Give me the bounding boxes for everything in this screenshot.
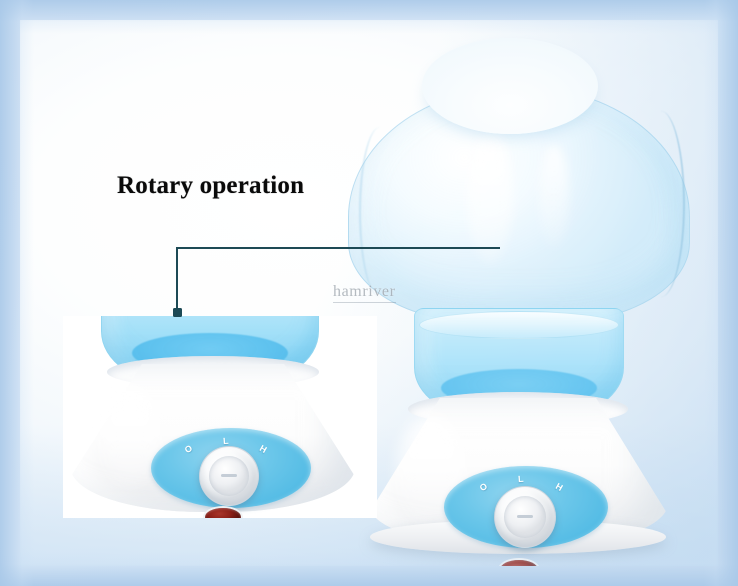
rotary-knob-indicator-mark-main	[517, 515, 533, 518]
dial-label-low-inset: L	[223, 436, 229, 446]
rotary-knob-indicator-mark-inset	[221, 474, 237, 477]
dial-label-off-inset: O	[183, 443, 194, 455]
watermark-text: hamriver	[333, 283, 396, 303]
mask-highlight-left	[467, 131, 513, 263]
rotary-knob-inset[interactable]	[199, 446, 259, 506]
water-bowl-rim	[419, 311, 619, 339]
product-image-canvas: O L H hamriver Rotary operation	[0, 0, 738, 586]
mask-highlight-right	[539, 145, 569, 249]
rotary-knob-cap-main	[504, 496, 546, 538]
power-indicator-light-main	[500, 560, 538, 566]
mask-edge-right	[637, 111, 685, 297]
dial-label-high-main: H	[554, 481, 565, 493]
rotary-knob-main[interactable]	[494, 486, 556, 548]
product-main: O L H	[326, 68, 698, 550]
dial-label-off-main: O	[478, 481, 489, 493]
inset-scene: O L H	[63, 316, 377, 518]
dial-label-high-inset: H	[258, 443, 269, 455]
rotary-knob-cap-inset	[209, 456, 249, 496]
mask-top-dip	[422, 38, 598, 134]
inset-closeup-panel: O L H	[63, 316, 377, 518]
dial-label-low-main: L	[518, 474, 524, 484]
mask-edge-left	[359, 127, 401, 297]
page-title: Rotary operation	[117, 172, 304, 200]
photo-plate: O L H hamriver Rotary operation	[20, 20, 718, 566]
